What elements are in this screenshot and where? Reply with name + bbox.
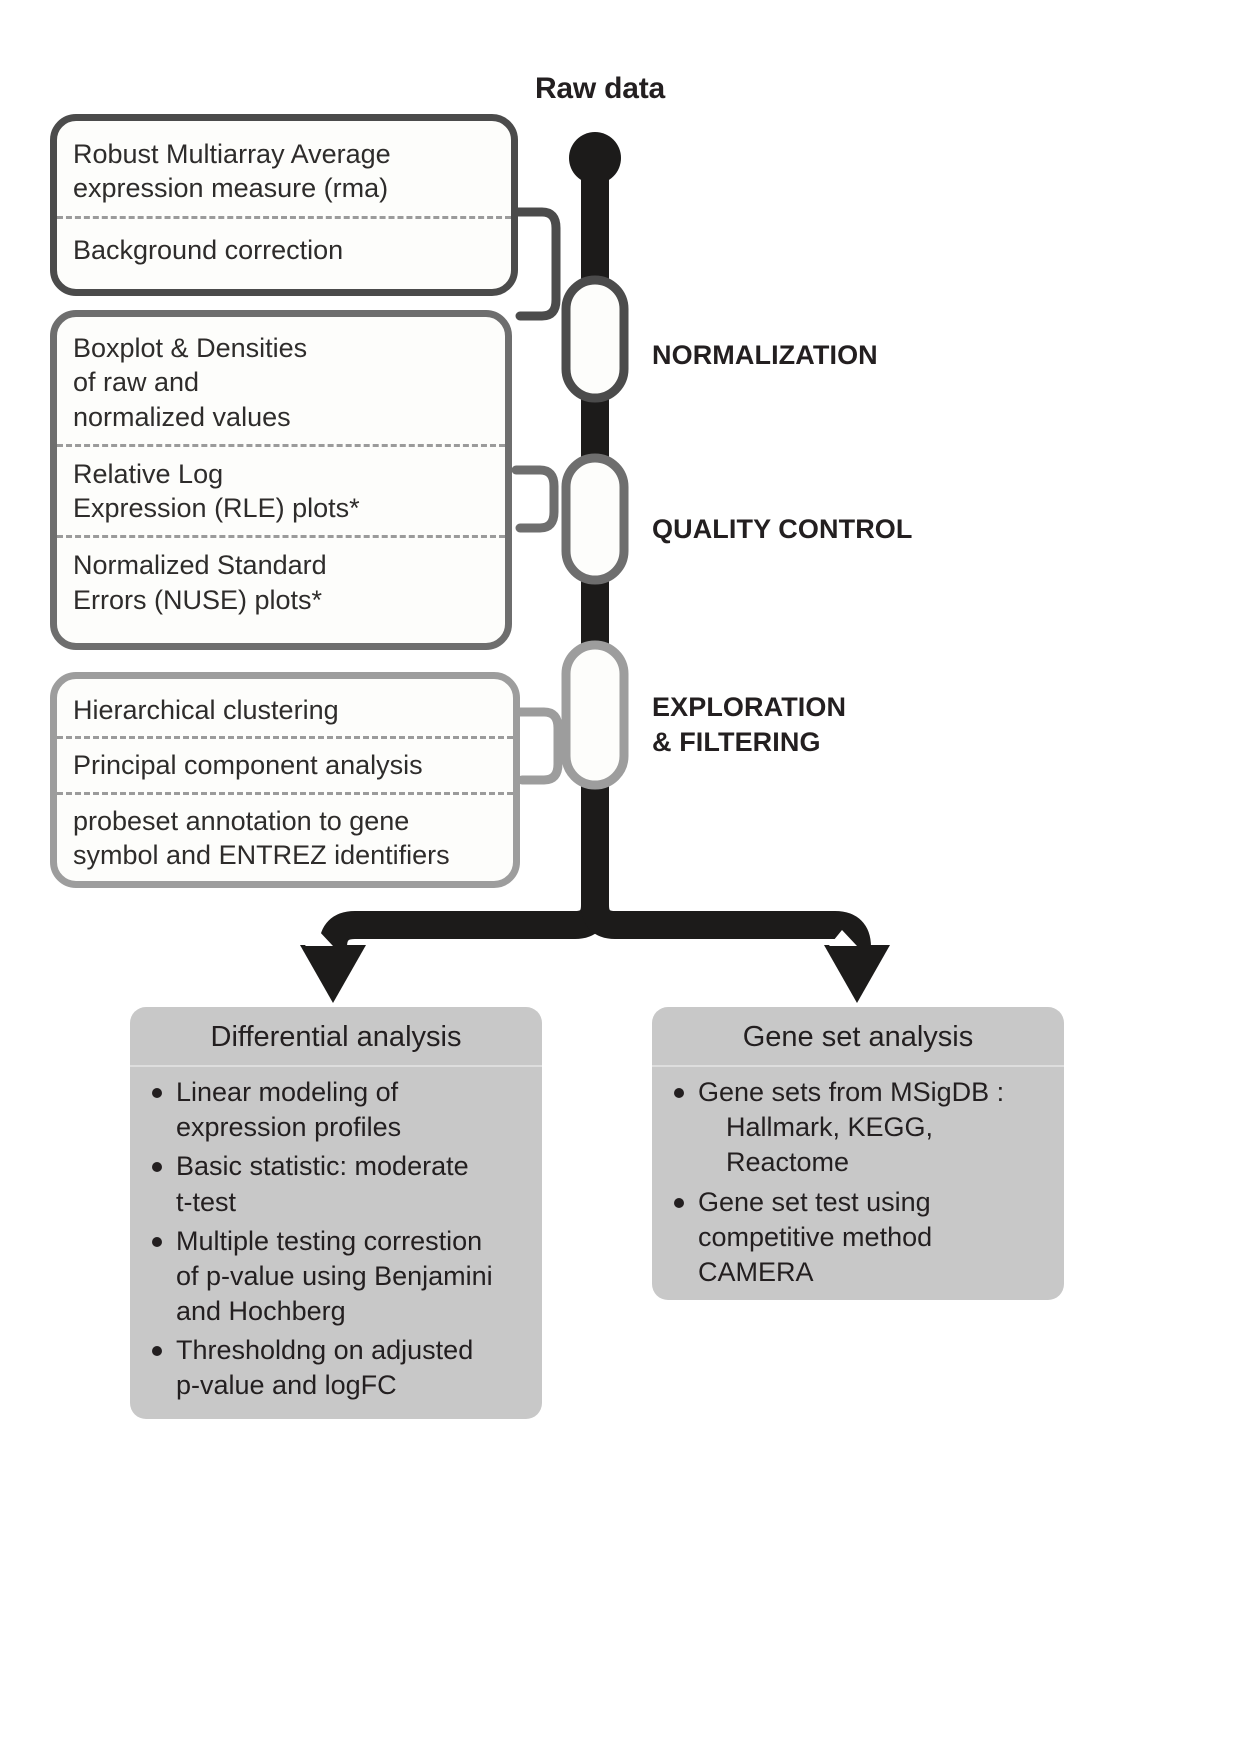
panel-qc-step-3: Normalized StandardErrors (NUSE) plots* [57, 535, 505, 631]
raw-data-node-icon [569, 132, 621, 184]
panel-qc-step-1: Boxplot & Densitiesof raw andnormalized … [57, 317, 505, 444]
output-title-geneset: Gene set analysis [652, 1007, 1064, 1067]
bullet-icon [674, 1198, 684, 1208]
connector-normalization [518, 212, 556, 316]
panel-qc-step-2: Relative LogExpression (RLE) plots* [57, 444, 505, 536]
list-item: Thresholdng on adjustedp-value and logFC [146, 1333, 528, 1403]
list-item: Linear modeling ofexpression profiles [146, 1075, 528, 1145]
output-list-differential: Linear modeling ofexpression profiles Ba… [130, 1067, 542, 1419]
spine-segment-bottom [581, 782, 609, 900]
stage-label-exploration: EXPLORATION& FILTERING [652, 690, 846, 759]
list-item: Gene set test usingcompetitive methodCAM… [668, 1185, 1050, 1290]
output-title-differential: Differential analysis [130, 1007, 542, 1067]
list-item-text: Thresholdng on adjustedp-value and logFC [176, 1335, 473, 1400]
spine-segment-qc-expl [581, 578, 609, 650]
list-item: Multiple testing correstionof p-value us… [146, 1224, 528, 1329]
panel-normalization-step-2: Background correction [57, 216, 511, 283]
list-item-text: Gene set test usingcompetitive methodCAM… [698, 1187, 932, 1287]
connector-quality-control [516, 470, 554, 528]
panel-exploration-step-1: Hierarchical clustering [57, 679, 513, 736]
stage-node-exploration [566, 645, 624, 785]
arrow-left-notch [305, 930, 333, 946]
arrowhead-right-icon [824, 945, 890, 1003]
list-item-text: Linear modeling ofexpression profiles [176, 1077, 401, 1142]
stage-label-quality-control: QUALITY CONTROL [652, 512, 913, 547]
spine-segment-norm-qc [581, 395, 609, 475]
stage-node-quality-control [566, 458, 624, 580]
panel-exploration-step-2: Principal component analysis [57, 736, 513, 791]
stage-label-normalization: NORMALIZATION [652, 338, 878, 373]
page-title: Raw data [450, 72, 750, 106]
spine-segment-top [581, 158, 609, 298]
output-box-gene-set-analysis: Gene set analysis Gene sets from MSigDB … [652, 1007, 1064, 1300]
list-item: Basic statistic: moderatet-test [146, 1149, 528, 1219]
arrow-right-notch [829, 930, 857, 946]
branch-left [333, 878, 595, 960]
list-item: Gene sets from MSigDB :Hallmark, KEGG,Re… [668, 1075, 1050, 1180]
list-item-text: Basic statistic: moderatet-test [176, 1151, 469, 1216]
panel-normalization: Robust Multiarray Averageexpression meas… [50, 114, 518, 296]
diagram-canvas: Raw data Robust Multiarray Averageexpres… [0, 0, 1240, 1753]
connector-exploration [520, 712, 558, 780]
bullet-icon [152, 1237, 162, 1247]
list-item-text: Multiple testing correstionof p-value us… [176, 1226, 493, 1326]
panel-exploration: Hierarchical clustering Principal compon… [50, 672, 520, 888]
output-box-differential-analysis: Differential analysis Linear modeling of… [130, 1007, 542, 1419]
output-list-geneset: Gene sets from MSigDB :Hallmark, KEGG,Re… [652, 1067, 1064, 1300]
branch-right [595, 878, 857, 960]
bullet-icon [152, 1162, 162, 1172]
panel-exploration-step-3: probeset annotation to genesymbol and EN… [57, 792, 513, 887]
bullet-icon [674, 1088, 684, 1098]
stage-node-normalization [566, 280, 624, 398]
list-item-text: Gene sets from MSigDB :Hallmark, KEGG,Re… [698, 1077, 1004, 1177]
bullet-icon [152, 1346, 162, 1356]
panel-normalization-step-1: Robust Multiarray Averageexpression meas… [57, 121, 511, 216]
bullet-icon [152, 1088, 162, 1098]
arrowhead-left-icon [300, 945, 366, 1003]
panel-quality-control: Boxplot & Densitiesof raw andnormalized … [50, 310, 512, 650]
